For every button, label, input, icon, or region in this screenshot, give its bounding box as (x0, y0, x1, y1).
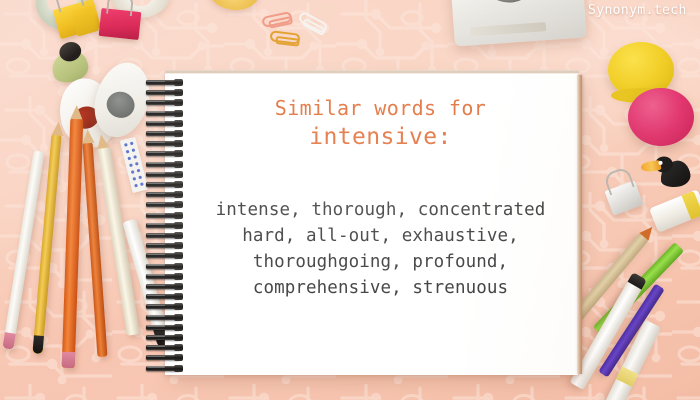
spiral-ring (146, 100, 180, 105)
spiral-ring (146, 162, 180, 167)
spiral-ring (146, 213, 180, 218)
pen-nib (95, 133, 109, 149)
spiral-ring (146, 345, 180, 350)
spiral-ring (146, 131, 180, 136)
spiral-ring (146, 294, 180, 299)
notebook-page: Similar words for intensive: intense, th… (165, 73, 578, 375)
spiral-ring (146, 355, 180, 360)
spiral-ring (146, 284, 180, 289)
pencil-ferrule (32, 335, 44, 354)
synonym-list: intense, thorough, concentrated hard, al… (199, 197, 562, 301)
spiral-ring (146, 304, 180, 309)
spiral-ring (146, 182, 180, 187)
spiral-ring (146, 111, 180, 116)
spiral-ring (146, 151, 180, 156)
spiral-ring (146, 325, 180, 330)
site-logo: Synonym.tech (588, 3, 687, 18)
oval-eraser-gray-emblem (104, 88, 138, 121)
pencil-point (52, 121, 65, 136)
spiral-ring (146, 243, 180, 248)
spiral-ring (146, 90, 180, 95)
spiral-ring (146, 202, 180, 207)
page-title-term: intensive: (199, 122, 562, 153)
binder-clip-pink (99, 8, 142, 40)
notebook-content: Similar words for intensive: intense, th… (165, 73, 578, 375)
synonym-line: intense, thorough, concentrated (199, 197, 562, 223)
macaron-pink (628, 88, 694, 146)
spiral-ring (146, 80, 180, 85)
camera-grip-strip (470, 22, 546, 36)
spiral-ring (146, 264, 180, 269)
spiral-ring (146, 223, 180, 228)
spiral-ring (146, 172, 180, 177)
page-title-prefix: Similar words for (199, 97, 562, 120)
spiral-ring (146, 274, 180, 279)
spiral-ring (146, 366, 180, 371)
spiral-ring (146, 315, 180, 320)
spiral-ring (146, 141, 180, 146)
binder-clip-arm (106, 0, 134, 16)
spiral-binding (146, 78, 188, 374)
spiral-ring (146, 121, 180, 126)
pencil-point (70, 105, 82, 119)
spiral-ring (146, 192, 180, 197)
spiral-ring (146, 253, 180, 258)
toucan-sticker (644, 153, 692, 193)
pencil-eraser (62, 352, 76, 368)
spiral-ring (146, 335, 180, 340)
pencil-point (82, 129, 95, 144)
synonym-line: thoroughgoing, profound, (199, 249, 562, 275)
synonym-line: hard, all-out, exhaustive, (199, 223, 562, 249)
camera-lens (478, 0, 540, 5)
paint-tube-cap (681, 191, 700, 220)
synonym-line: comprehensive, strenuous (199, 275, 562, 301)
spiral-ring (146, 233, 180, 238)
